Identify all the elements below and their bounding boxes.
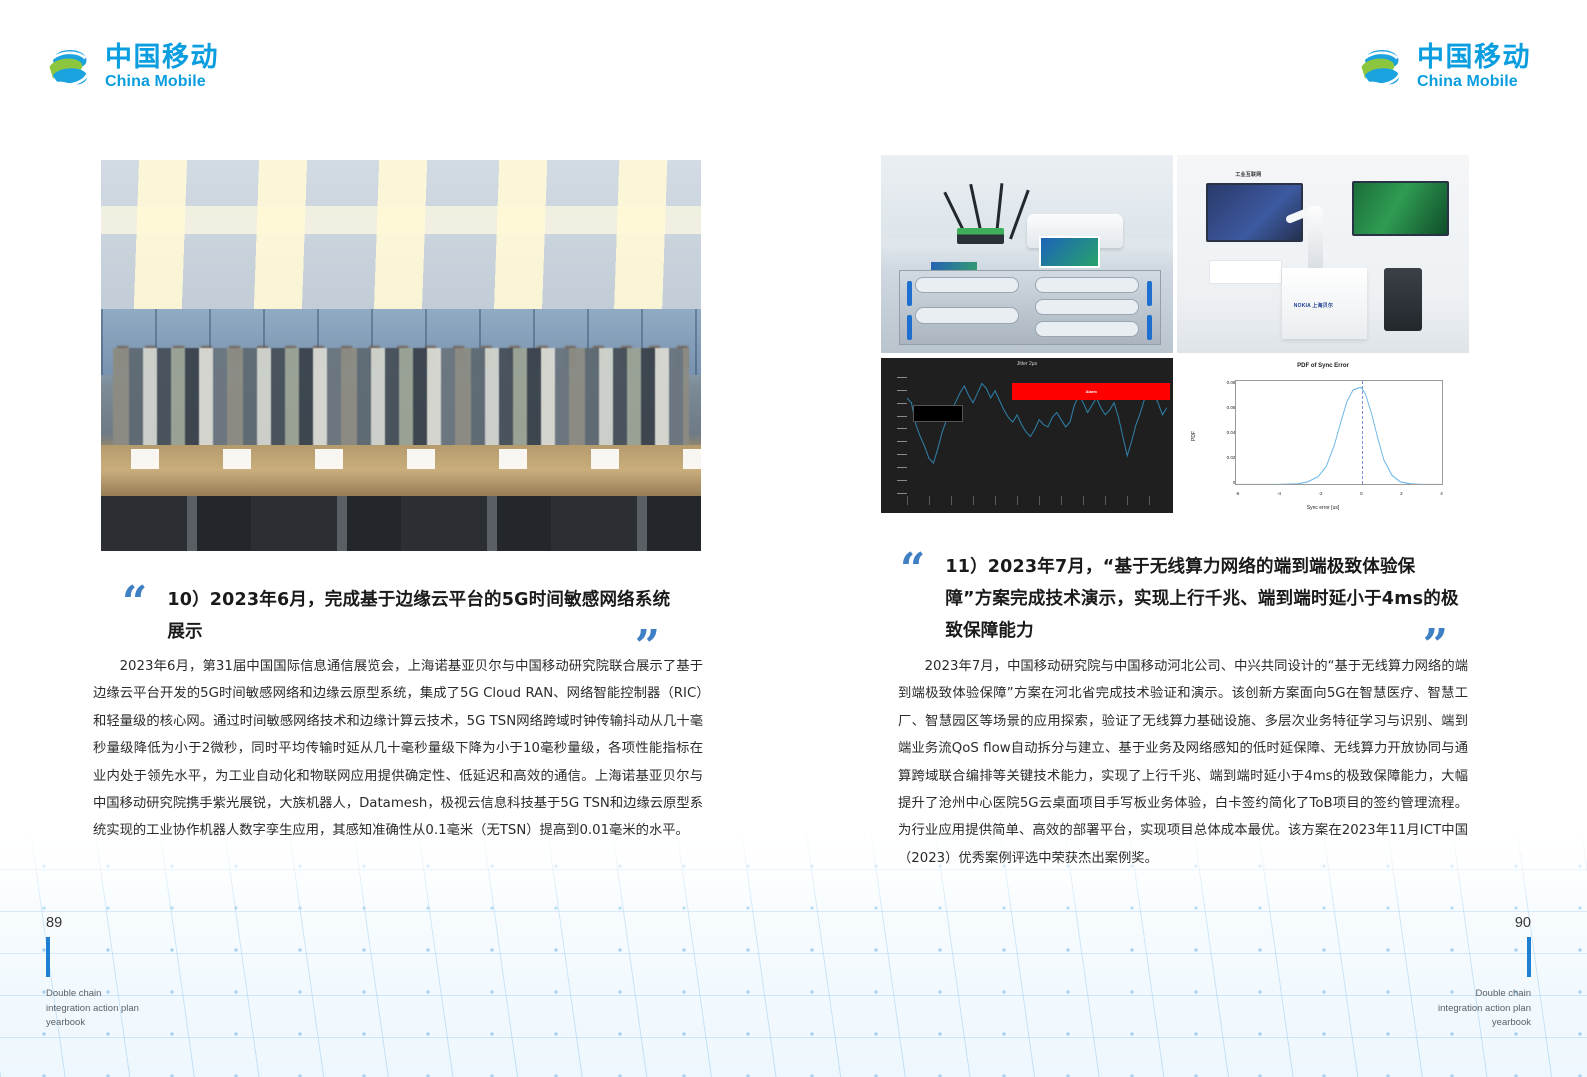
folio-bar	[1527, 937, 1531, 977]
right-heading-block: “ 11）2023年7月，“基于无线算力网络的端到端极致体验保障”方案完成技术演…	[900, 552, 1460, 665]
jitter-alert-banner: Alarm	[1012, 383, 1170, 400]
footer-line-2: integration action plan	[46, 1002, 139, 1017]
jitter-value-badge	[913, 405, 963, 422]
booth-tv-label: 工业互联网	[1235, 171, 1261, 178]
right-folio: 90 Double chain integration action plan …	[1438, 915, 1531, 1031]
left-page-body: 2023年6月，第31届中国国际信息通信展览会，上海诺基亚贝尔与中国移动研究院联…	[93, 653, 703, 845]
footer-line-3: yearbook	[46, 1016, 139, 1031]
china-mobile-logo-left: 中国移动 China Mobile	[42, 40, 219, 94]
group-photo	[101, 160, 701, 551]
folio-bar	[46, 937, 50, 977]
quote-open-icon: “	[900, 552, 923, 587]
logo-text-en: China Mobile	[1417, 74, 1531, 90]
pdf-y-ticks: 0.080.060.040.020	[1203, 380, 1235, 485]
jitter-alert-text: Alarm	[1086, 389, 1097, 394]
left-folio: 89 Double chain integration action plan …	[46, 915, 139, 1031]
jitter-chart-title: Jitter 2µs	[881, 361, 1173, 367]
footer-line-2: integration action plan	[1438, 1002, 1531, 1017]
pdf-curve	[1236, 381, 1441, 484]
jitter-x-axis	[907, 496, 1167, 505]
pdf-x-axis-label: Sync error [us]	[1177, 505, 1469, 511]
pdf-sync-error-chart-image: PDF of Sync Error PDF 0.080.060.040.020 …	[1177, 358, 1469, 513]
jitter-chart-image: Jitter 2µs Alarm	[881, 358, 1173, 513]
footer-line-3: yearbook	[1438, 1016, 1531, 1031]
pdf-x-ticks: -6-4-2024	[1235, 491, 1442, 496]
footer-line-1: Double chain	[46, 987, 139, 1002]
pdf-peak-marker	[1362, 381, 1363, 484]
pdf-chart-title: PDF of Sync Error	[1177, 363, 1469, 369]
left-page-number: 89	[46, 915, 139, 931]
right-page-number: 90	[1438, 915, 1531, 931]
jitter-y-axis	[890, 377, 908, 495]
rack-equipment-photo	[881, 155, 1173, 353]
quote-open-icon: “	[122, 585, 145, 620]
pdf-y-axis-label: PDF	[1191, 431, 1197, 441]
china-mobile-logo-icon	[1354, 40, 1408, 94]
left-page: 中国移动 China Mobile “ 10）2023年6月，完成基于边缘云平台…	[0, 0, 793, 1077]
nokia-booth-photo: 工业互联网 NOKIA 上海贝尔	[1177, 155, 1469, 353]
logo-text-en: China Mobile	[105, 74, 219, 90]
footer-line-1: Double chain	[1438, 987, 1531, 1002]
left-page-heading: 10）2023年6月，完成基于边缘云平台的5G时间敏感网络系统展示	[167, 585, 682, 649]
booth-brand-label: NOKIA 上海贝尔	[1294, 302, 1333, 309]
logo-text-cn: 中国移动	[1417, 44, 1531, 71]
china-mobile-logo-icon	[42, 40, 96, 94]
right-page-heading: 11）2023年7月，“基于无线算力网络的端到端极致体验保障”方案完成技术演示，…	[945, 552, 1460, 648]
logo-text-cn: 中国移动	[105, 44, 219, 71]
pdf-plot-frame	[1235, 380, 1442, 485]
china-mobile-logo-right: 中国移动 China Mobile	[1354, 40, 1531, 94]
document-spread: 中国移动 China Mobile “ 10）2023年6月，完成基于边缘云平台…	[0, 0, 1587, 1077]
right-page-body: 2023年7月，中国移动研究院与中国移动河北公司、中兴共同设计的“基于无线算力网…	[898, 653, 1468, 872]
